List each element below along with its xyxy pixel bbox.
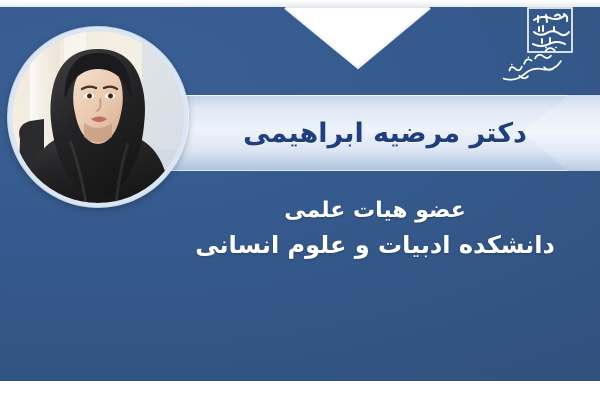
shahid-beheshti-university-logo [498,6,590,84]
subtitle-faculty: دانشکده ادبیات و علوم انسانی [170,229,580,262]
profile-card-canvas: دکتر مرضیه ابراهیمی [0,0,600,400]
subtitle-role: عضو هیات علمی [170,196,580,226]
avatar [12,31,184,203]
page-title: دکتر مرضیه ابراهیمی [150,95,580,171]
avatar-ring [8,27,188,207]
subtitle-block: عضو هیات علمی دانشکده ادبیات و علوم انسا… [170,196,580,262]
